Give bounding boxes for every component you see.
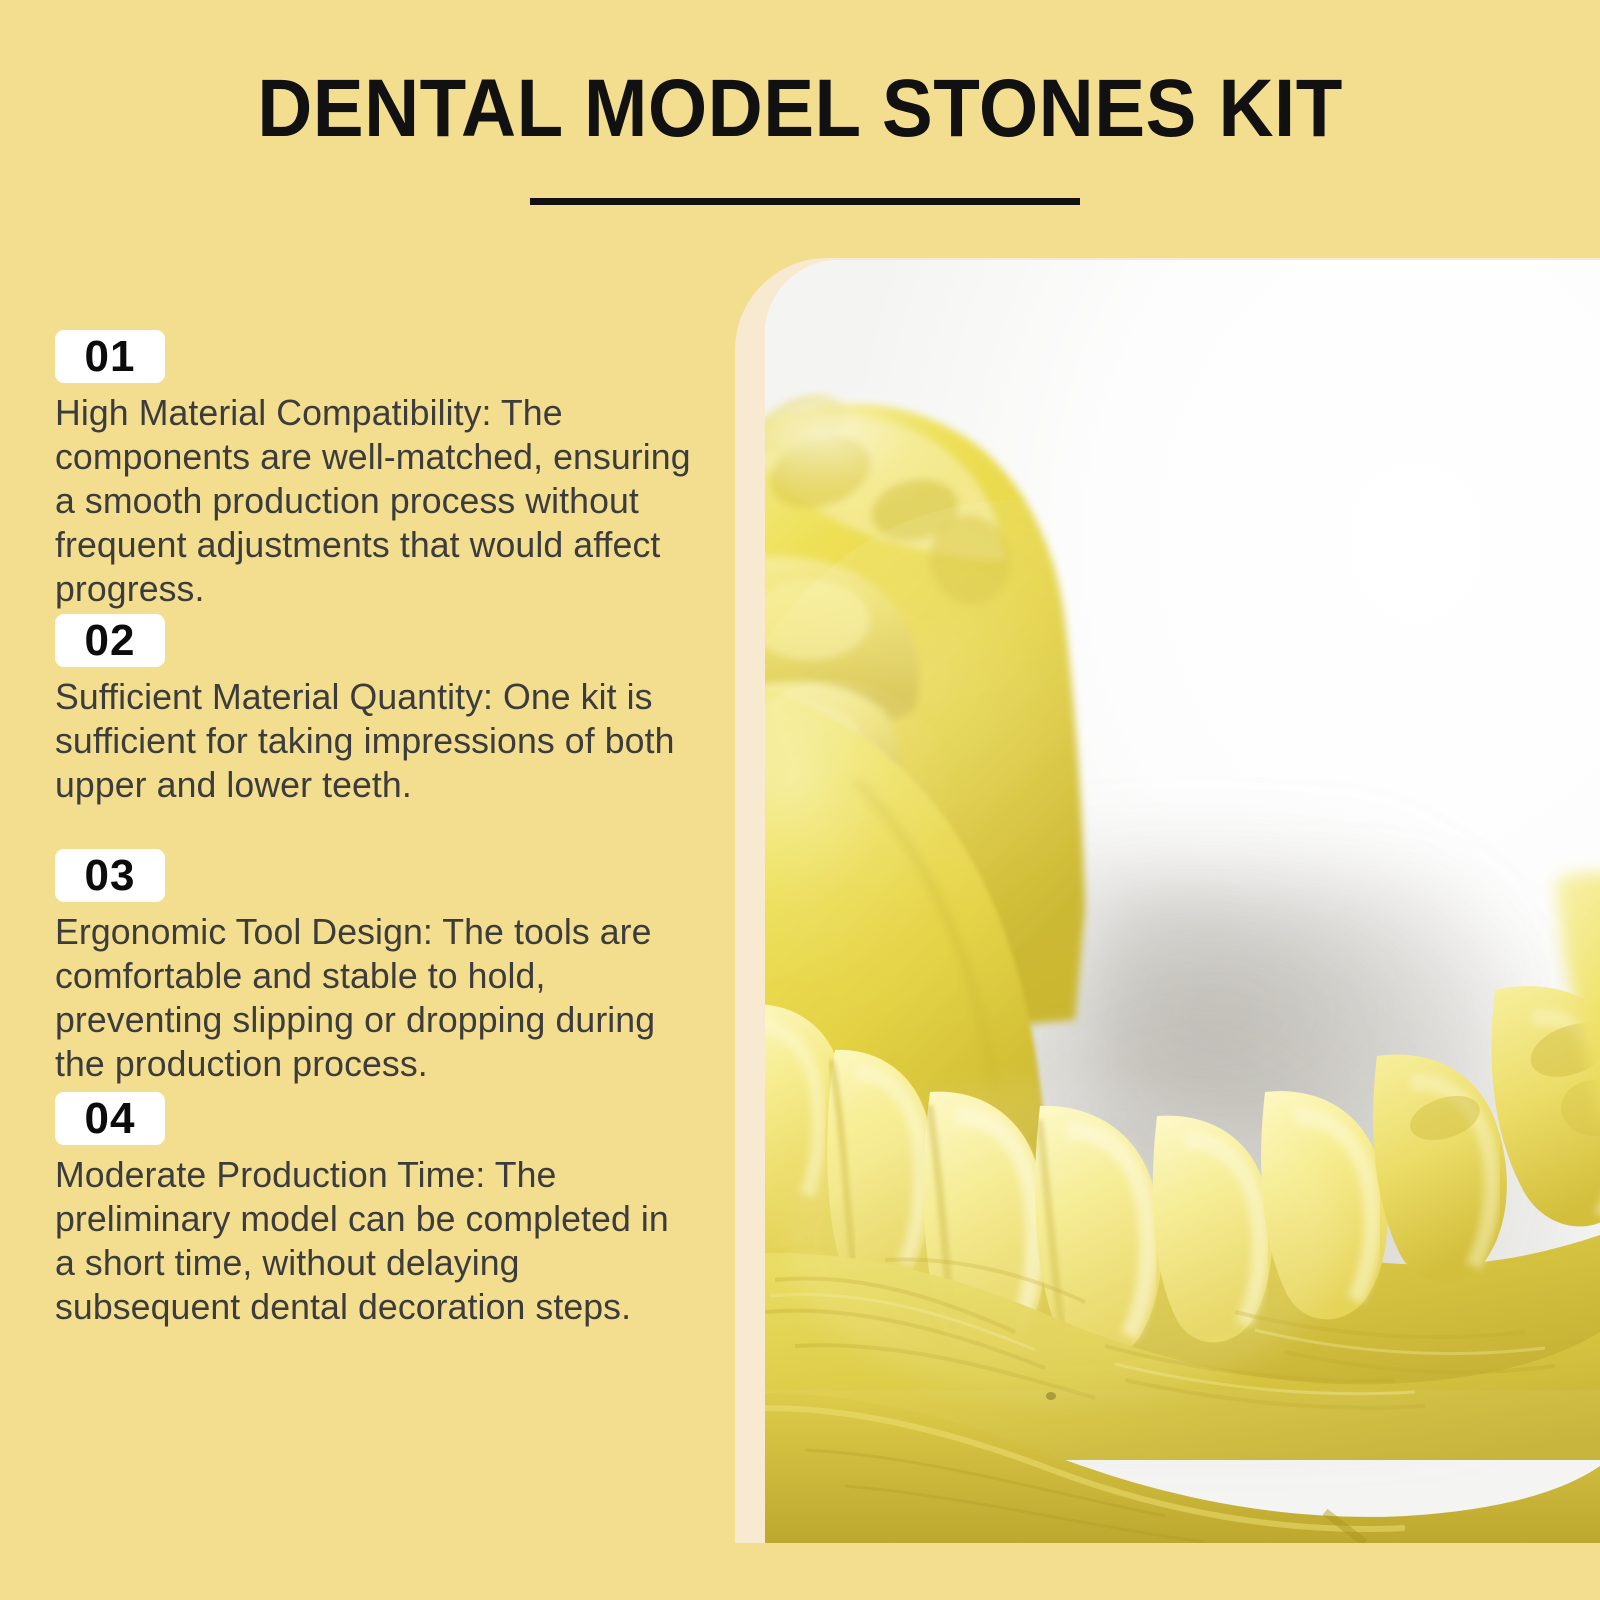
feature-number-badge-03: 03 [55, 849, 165, 902]
poster-root: DENTAL MODEL STONES KIT 01 High Material… [0, 0, 1600, 1600]
feature-item-01: 01 High Material Compatibility: The comp… [55, 330, 705, 611]
feature-item-03: 03 Ergonomic Tool Design: The tools are … [55, 849, 705, 1086]
feature-number-badge-02: 02 [55, 614, 165, 667]
page-title: DENTAL MODEL STONES KIT [56, 62, 1544, 156]
feature-text-02: Sufficient Material Quantity: One kit is… [55, 675, 699, 807]
title-underline [530, 198, 1080, 205]
feature-text-03: Ergonomic Tool Design: The tools are com… [55, 910, 699, 1086]
feature-number-badge-04: 04 [55, 1092, 165, 1145]
feature-list: 01 High Material Compatibility: The comp… [55, 330, 705, 1329]
bottom-background-strip [0, 1543, 1600, 1600]
feature-text-01: High Material Compatibility: The compone… [55, 391, 699, 611]
dental-stone-cast-illustration [765, 260, 1600, 1543]
feature-text-04: Moderate Production Time: The preliminar… [55, 1153, 699, 1329]
feature-number-badge-01: 01 [55, 330, 165, 383]
feature-item-04: 04 Moderate Production Time: The prelimi… [55, 1092, 705, 1329]
product-photo-card [765, 260, 1600, 1543]
feature-item-02: 02 Sufficient Material Quantity: One kit… [55, 614, 705, 807]
